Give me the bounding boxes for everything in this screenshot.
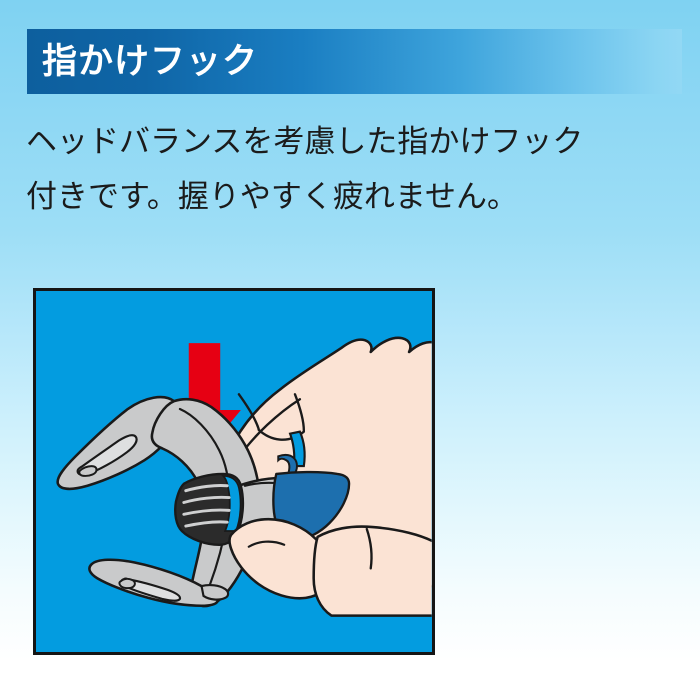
description-line-2: 付きです。握りやすく疲れません。: [26, 169, 666, 224]
lower-palm: [314, 527, 432, 616]
description-line-1: ヘッドバランスを考慮した指かけフック: [26, 114, 666, 169]
illustration-panel: [33, 288, 435, 655]
description-text: ヘッドバランスを考慮した指かけフック 付きです。握りやすく疲れません。: [26, 114, 666, 224]
wrench-in-hand-illustration: [36, 291, 432, 652]
page-title: 指かけフック: [42, 36, 258, 88]
wrench-jaw-tip: [202, 585, 229, 600]
product-feature-card: 指かけフック ヘッドバランスを考慮した指かけフック 付きです。握りやすく疲れませ…: [0, 0, 700, 700]
wrench-lower-slot-end: [119, 579, 134, 588]
